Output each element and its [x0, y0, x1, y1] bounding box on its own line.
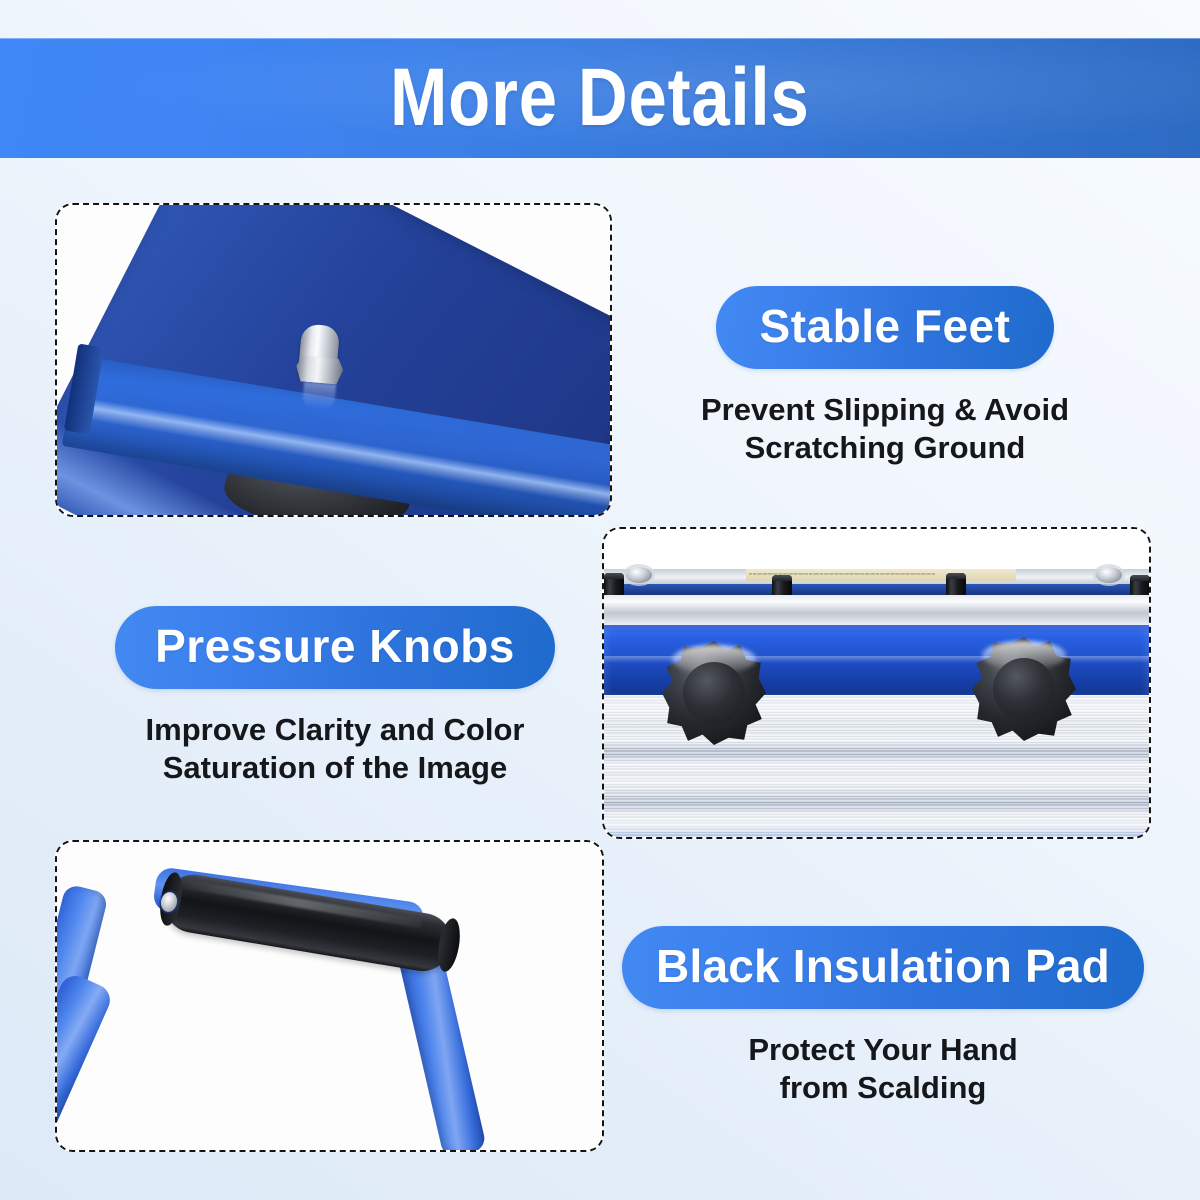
photo-frame-pressure-knobs: mmmmmmmmmmmmmmmmmmmmmmmmmmmmmmmmmmmmmmmm… [602, 527, 1151, 839]
pressure-knob-right [972, 637, 1076, 741]
blue-rail-stripe [604, 584, 1149, 595]
acorn-nut-hex [295, 355, 344, 385]
photo-frame-stable-feet [55, 203, 612, 517]
page-title: More Details [390, 57, 810, 139]
nut-reflection [302, 382, 336, 411]
feature-pill-stable-feet: Stable Feet [716, 286, 1055, 369]
feature-text-pressure-knobs: Pressure Knobs Improve Clarity and Color… [90, 606, 580, 787]
feature-caption-pressure-knobs: Improve Clarity and Color Saturation of … [90, 711, 580, 787]
feature-caption-insulation-pad: Protect Your Hand from Scalding [618, 1031, 1148, 1107]
pressure-knob-left [662, 641, 766, 745]
knob-cap [683, 662, 745, 724]
lower-rail [604, 595, 1149, 625]
feature-text-stable-feet: Stable Feet Prevent Slipping & Avoid Scr… [640, 286, 1130, 467]
feature-text-insulation-pad: Black Insulation Pad Protect Your Hand f… [618, 926, 1148, 1107]
photo-frame-insulation-pad [55, 840, 604, 1152]
header-banner: More Details [0, 38, 1200, 158]
feature-caption-stable-feet: Prevent Slipping & Avoid Scratching Grou… [640, 391, 1130, 467]
bolt-cap-left [626, 567, 652, 583]
photo-insulation-pad [57, 842, 602, 1150]
photo-top-whitespace [604, 529, 1149, 569]
photo-pressure-knobs: mmmmmmmmmmmmmmmmmmmmmmmmmmmmmmmmmmmmmmmm… [604, 529, 1149, 837]
feature-pill-pressure-knobs: Pressure Knobs [115, 606, 555, 689]
photo-stable-feet [57, 205, 610, 515]
product-detail-infographic: More Details Stable Feet Prevent Slippin… [0, 0, 1200, 1200]
photo-background [57, 842, 602, 1150]
bolt-cap-right [1096, 567, 1122, 583]
feature-pill-insulation-pad: Black Insulation Pad [622, 926, 1144, 1009]
knob-cap [993, 658, 1055, 720]
